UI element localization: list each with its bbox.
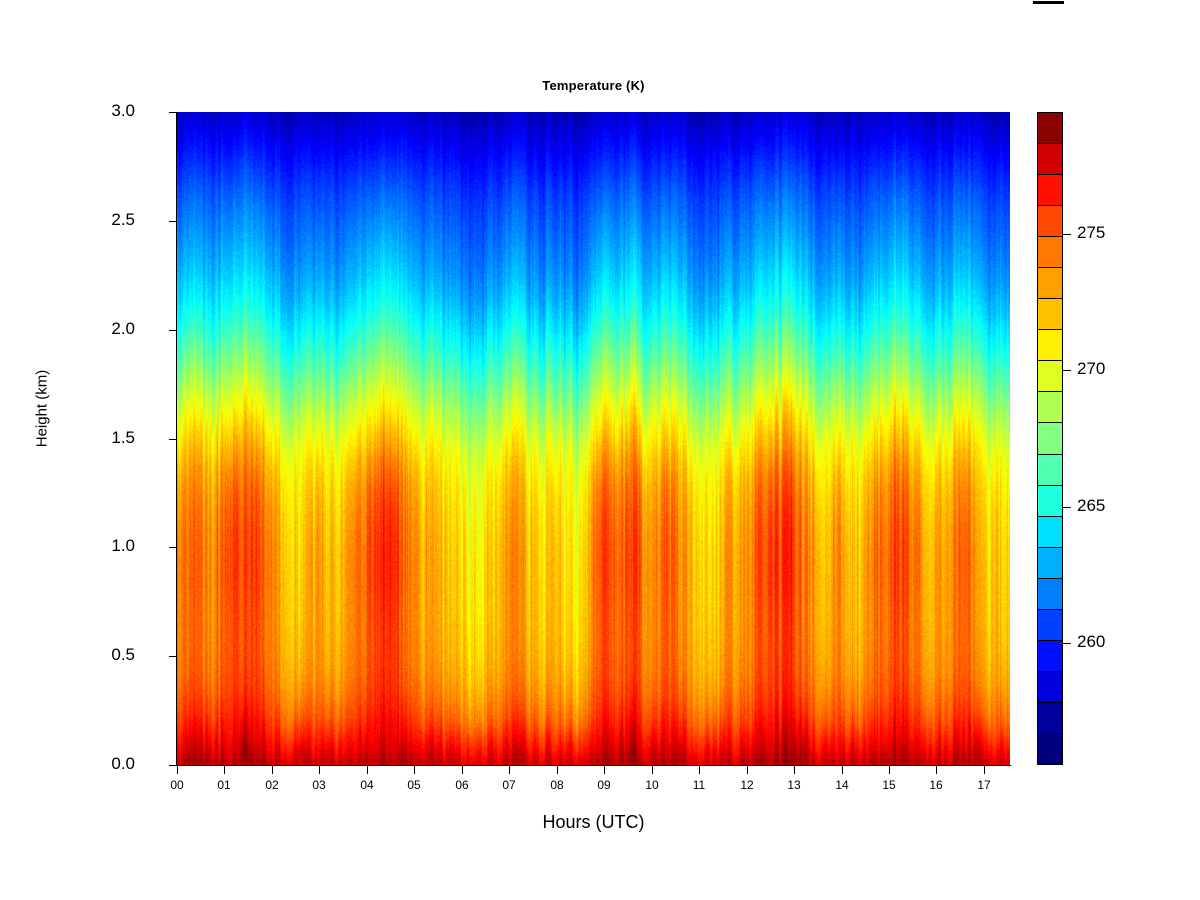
colorbar-band <box>1038 579 1062 610</box>
y-tick-mark <box>169 547 176 548</box>
y-tick-mark <box>169 765 176 766</box>
temperature-field-image <box>177 112 1010 765</box>
x-tick-mark <box>984 766 985 774</box>
colorbar-band <box>1038 703 1062 734</box>
y-tick-mark <box>169 439 176 440</box>
x-tick-label: 13 <box>774 778 814 792</box>
x-tick-mark <box>699 766 700 774</box>
colorbar-band <box>1038 486 1062 517</box>
x-tick-mark <box>509 766 510 774</box>
x-tick-mark <box>889 766 890 774</box>
x-tick-label: 03 <box>299 778 339 792</box>
x-tick-mark <box>177 766 178 774</box>
colorbar-tick-label: 265 <box>1077 496 1105 516</box>
colorbar-tick-label: 260 <box>1077 632 1105 652</box>
x-tick-mark <box>272 766 273 774</box>
colorbar-tick-label: 270 <box>1077 359 1105 379</box>
colorbar-tick-mark <box>1063 643 1071 644</box>
x-tick-label: 17 <box>964 778 1004 792</box>
x-tick-label: 02 <box>252 778 292 792</box>
y-axis-line <box>176 112 177 766</box>
colorbar-band <box>1038 672 1062 703</box>
colorbar-band <box>1038 175 1062 206</box>
x-tick-label: 04 <box>347 778 387 792</box>
colorbar-band <box>1038 144 1062 175</box>
colorbar-band <box>1038 517 1062 548</box>
x-tick-mark <box>367 766 368 774</box>
y-tick-mark <box>169 221 176 222</box>
x-tick-label: 06 <box>442 778 482 792</box>
x-tick-mark <box>557 766 558 774</box>
y-tick-label: 0.5 <box>111 645 135 665</box>
x-tick-label: 07 <box>489 778 529 792</box>
y-tick-label: 1.5 <box>111 428 135 448</box>
colorbar-band <box>1038 392 1062 423</box>
colorbar-tick-label: 275 <box>1077 223 1105 243</box>
y-tick-mark <box>169 656 176 657</box>
x-axis-title: Hours (UTC) <box>177 812 1010 833</box>
x-tick-label: 09 <box>584 778 624 792</box>
colorbar[interactable] <box>1037 112 1063 765</box>
colorbar-band <box>1038 455 1062 486</box>
x-tick-label: 12 <box>727 778 767 792</box>
colorbar-band <box>1038 423 1062 454</box>
colorbar-band <box>1038 361 1062 392</box>
x-tick-mark <box>794 766 795 774</box>
y-tick-label: 2.5 <box>111 210 135 230</box>
x-tick-label: 16 <box>916 778 956 792</box>
colorbar-band <box>1038 734 1062 764</box>
y-tick-label: 2.0 <box>111 319 135 339</box>
x-tick-mark <box>652 766 653 774</box>
x-tick-label: 00 <box>157 778 197 792</box>
y-tick-mark <box>169 330 176 331</box>
x-tick-mark <box>224 766 225 774</box>
heatmap-plot-area[interactable] <box>177 112 1010 765</box>
colorbar-band <box>1038 548 1062 579</box>
colorbar-band <box>1038 641 1062 672</box>
x-tick-label: 08 <box>537 778 577 792</box>
colorbar-band <box>1038 206 1062 237</box>
x-tick-label: 14 <box>822 778 862 792</box>
x-tick-mark <box>936 766 937 774</box>
colorbar-band <box>1038 268 1062 299</box>
colorbar-band <box>1038 237 1062 268</box>
x-tick-mark <box>747 766 748 774</box>
y-tick-label: 1.0 <box>111 536 135 556</box>
x-tick-mark <box>604 766 605 774</box>
figure-canvas: Temperature (K) 0.00.51.01.52.02.53.0 He… <box>0 0 1200 900</box>
y-tick-label: 3.0 <box>111 101 135 121</box>
x-tick-label: 05 <box>394 778 434 792</box>
colorbar-band <box>1038 299 1062 330</box>
x-axis-line <box>176 765 1011 766</box>
colorbar-tick-mark <box>1063 507 1071 508</box>
colorbar-band <box>1038 610 1062 641</box>
x-tick-label: 11 <box>679 778 719 792</box>
colorbar-tick-mark <box>1063 370 1071 371</box>
y-axis-title: Height (km) <box>34 334 51 484</box>
colorbar-band <box>1038 113 1062 144</box>
y-tick-mark <box>169 112 176 113</box>
x-tick-mark <box>319 766 320 774</box>
page-title: Temperature (K) <box>177 78 1010 93</box>
colorbar-tick-mark <box>1063 234 1071 235</box>
colorbar-frame-artifact <box>1033 1 1064 4</box>
colorbar-band <box>1038 330 1062 361</box>
y-tick-label: 0.0 <box>111 754 135 774</box>
x-tick-label: 01 <box>204 778 244 792</box>
x-tick-mark <box>462 766 463 774</box>
x-tick-mark <box>842 766 843 774</box>
x-tick-label: 10 <box>632 778 672 792</box>
x-tick-mark <box>414 766 415 774</box>
x-tick-label: 15 <box>869 778 909 792</box>
